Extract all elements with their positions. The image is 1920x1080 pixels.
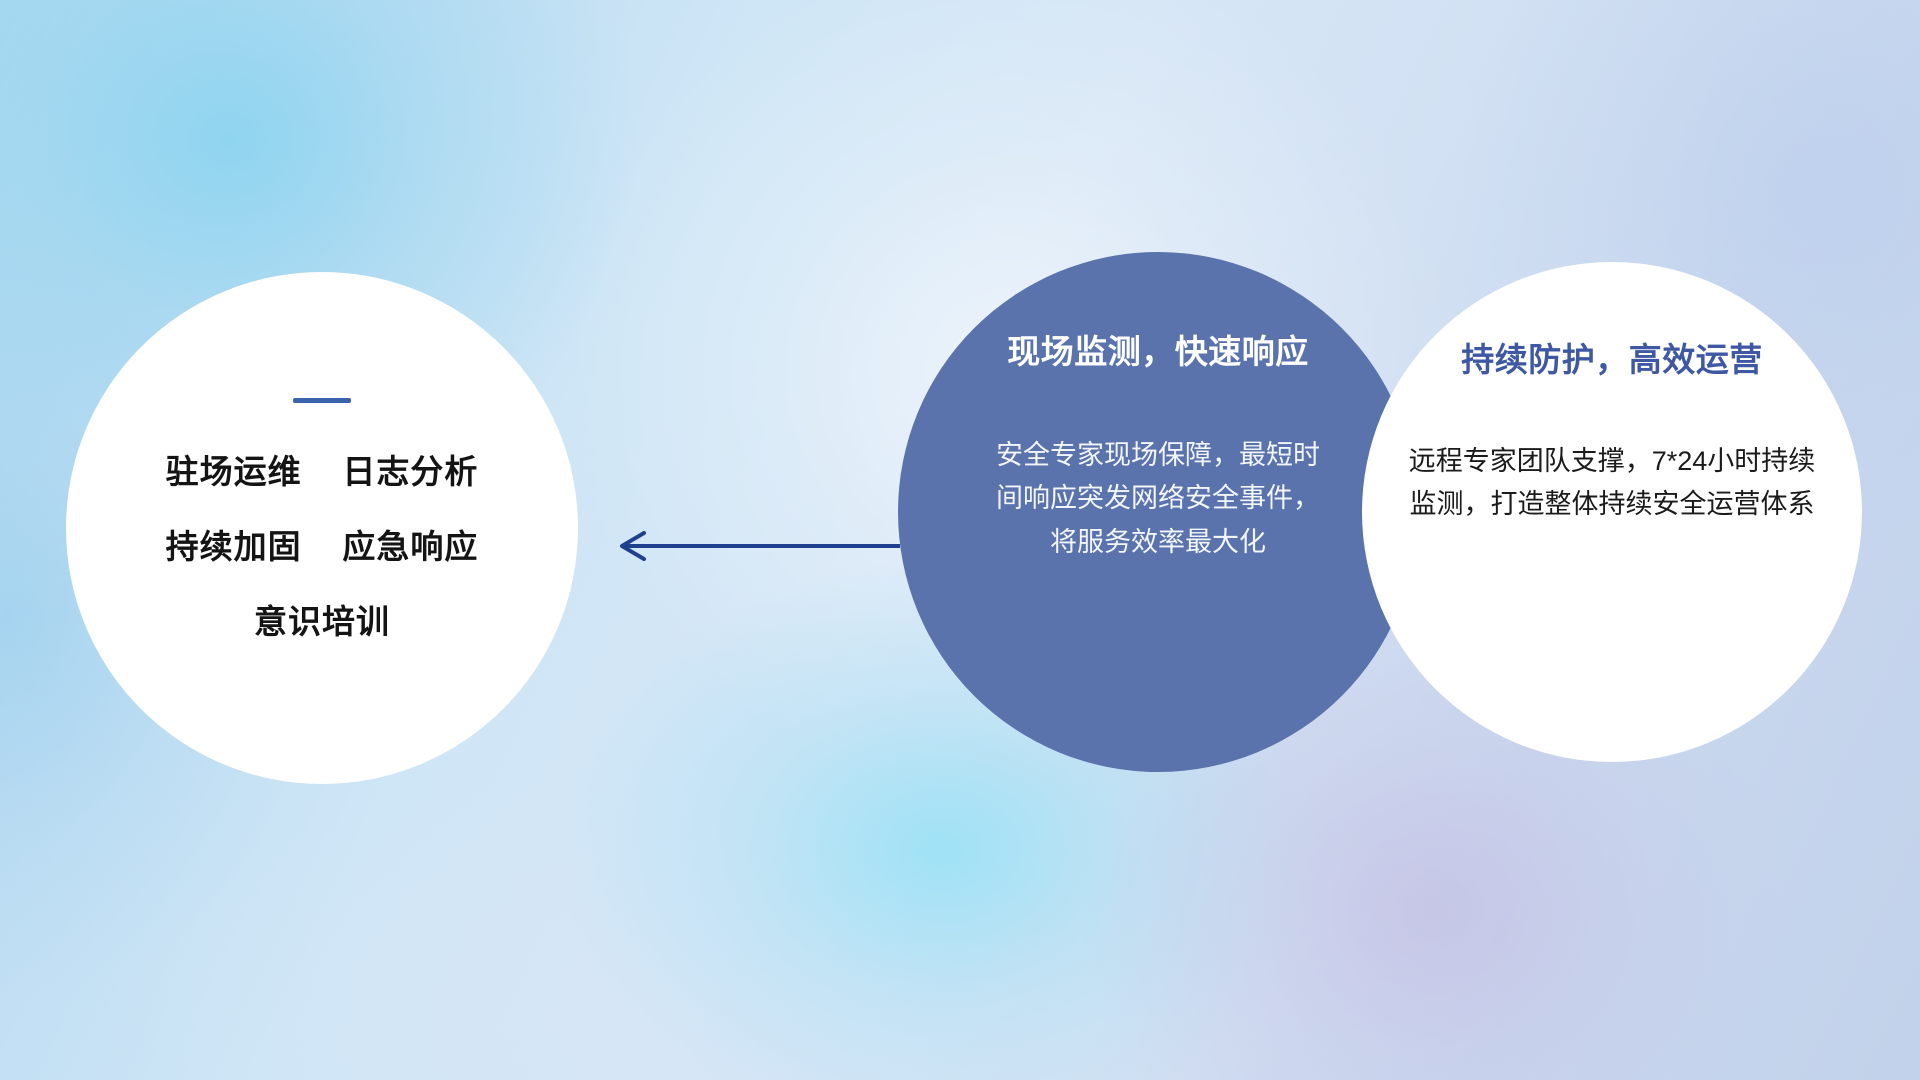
onsite-monitoring-title: 现场监测，快速响应 (1007, 332, 1309, 372)
dash-divider-icon (293, 398, 351, 403)
continuous-protection-circle: 持续防护，高效运营 远程专家团队支撑，7*24小时持续监测，打造整体持续安全运营… (1362, 262, 1862, 762)
continuous-protection-body: 远程专家团队支撑，7*24小时持续监测，打造整体持续安全运营体系 (1402, 440, 1822, 527)
left-capability-circle: 驻场运维 日志分析 持续加固 应急响应 意识培训 (66, 272, 578, 784)
continuous-protection-title: 持续防护，高效运营 (1461, 340, 1763, 380)
slide-canvas: 驻场运维 日志分析 持续加固 应急响应 意识培训 现场监测，快速响应 安全专家现… (0, 0, 1920, 1080)
onsite-monitoring-circle: 现场监测，快速响应 安全专家现场保障，最短时间响应突发网络安全事件，将服务效率最… (898, 252, 1418, 772)
onsite-monitoring-body: 安全专家现场保障，最短时间响应突发网络安全事件，将服务效率最大化 (993, 434, 1323, 565)
background-glow-bottom-sheen (120, 760, 1520, 1080)
capability-line-2: 持续加固 应急响应 (166, 530, 479, 563)
capability-line-1: 驻场运维 日志分析 (166, 455, 479, 488)
arrow-left-icon (600, 520, 900, 572)
capability-line-3: 意识培训 (254, 605, 390, 638)
